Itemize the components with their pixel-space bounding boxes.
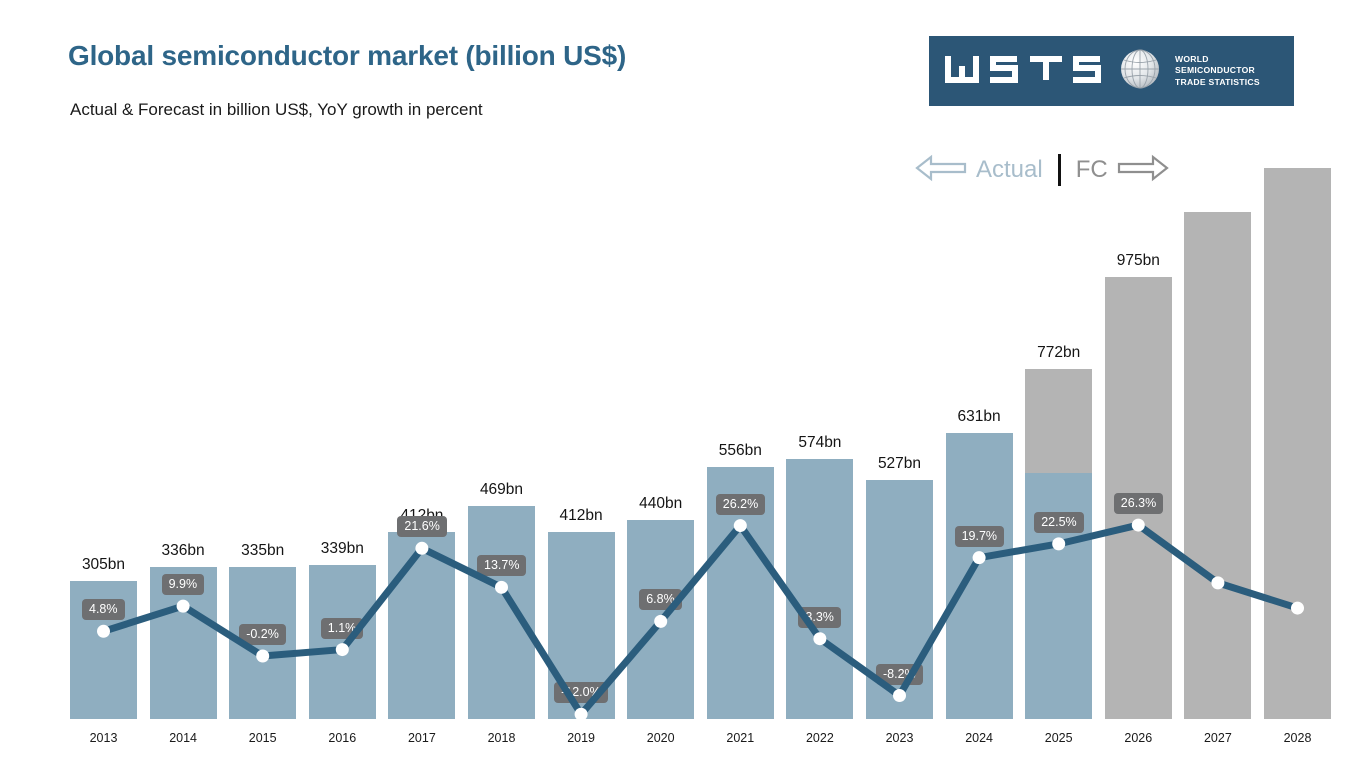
bar-2025: [1025, 369, 1092, 719]
bar-value-2022: 574bn: [766, 434, 873, 452]
bar-2022: [786, 459, 853, 719]
growth-label-2025: 22.5%: [1034, 512, 1083, 533]
chart-plot-area: 305bn2013336bn2014335bn2015339bn2016412b…: [0, 0, 1354, 782]
growth-label-2026: 26.3%: [1114, 493, 1163, 514]
bar-value-2024: 631bn: [926, 408, 1033, 426]
growth-label-2017: 21.6%: [397, 516, 446, 537]
bar-2024: [946, 433, 1013, 719]
bar-value-2026: 975bn: [1085, 252, 1192, 270]
growth-label-2015: -0.2%: [239, 624, 286, 645]
bar-value-2025: 772bn: [1005, 344, 1112, 362]
bar-2020: [627, 520, 694, 719]
growth-label-2018: 13.7%: [477, 555, 526, 576]
growth-label-2020: 6.8%: [639, 589, 682, 610]
bar-2017: [388, 532, 455, 719]
bar-2016: [309, 565, 376, 719]
growth-label-2023: -8.2%: [876, 664, 923, 685]
bar-2027: [1184, 212, 1251, 719]
bar-value-2020: 440bn: [607, 495, 714, 513]
bar-value-2016: 339bn: [289, 540, 396, 558]
bar-value-2023: 527bn: [846, 455, 953, 473]
growth-label-2021: 26.2%: [716, 494, 765, 515]
bar-2025-forecast-portion: [1025, 369, 1092, 473]
growth-label-2014: 9.9%: [162, 574, 205, 595]
bar-2018: [468, 506, 535, 719]
bar-2028: [1264, 168, 1331, 719]
bar-value-2018: 469bn: [448, 481, 555, 499]
growth-label-2019: -12.0%: [554, 682, 608, 703]
x-axis-label-2028: 2028: [1249, 731, 1346, 745]
growth-label-2022: 3.3%: [798, 607, 841, 628]
growth-label-2013: 4.8%: [82, 599, 125, 620]
growth-label-2016: 1.1%: [321, 618, 364, 639]
growth-label-2024: 19.7%: [955, 526, 1004, 547]
